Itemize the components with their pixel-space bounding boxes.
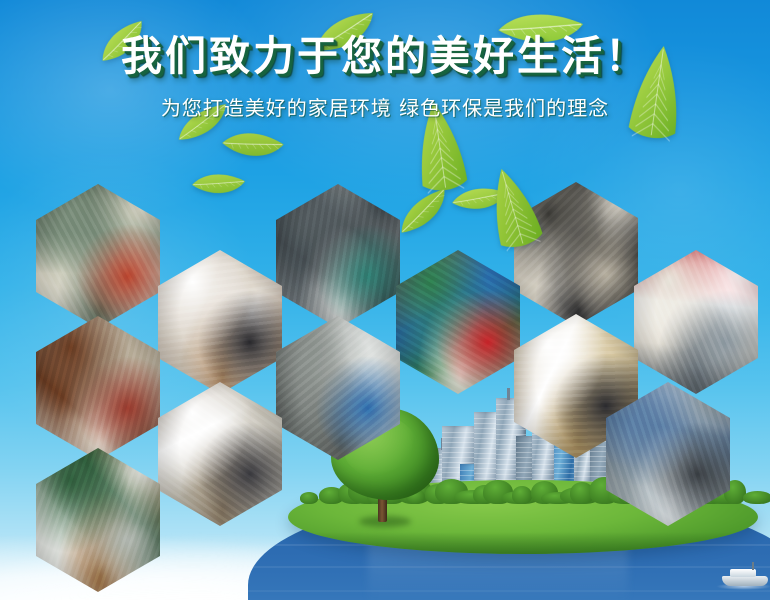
- island-bush: [743, 491, 770, 504]
- hex-photo-vignette: [634, 250, 758, 394]
- boat-hull: [722, 576, 768, 586]
- boat-mast: [752, 562, 754, 570]
- page-title: 我们致力于您的美好生活！: [0, 34, 770, 80]
- hex-tile-carpet-extractor[interactable]: [396, 250, 520, 394]
- hex-photo: [158, 250, 282, 394]
- hex-photo: [36, 184, 160, 328]
- banner-text-block: 我们致力于您的美好生活！ 为您打造美好的家居环境 绿色环保是我们的理念: [0, 34, 770, 121]
- boat-deck: [730, 569, 756, 577]
- hex-tile-stair-mopping[interactable]: [158, 250, 282, 394]
- hex-photo: [158, 382, 282, 526]
- leaf-mid-center-icon: [217, 118, 286, 174]
- hex-tile-ceiling-duct[interactable]: [276, 184, 400, 328]
- page-subtitle: 为您打造美好的家居环境 绿色环保是我们的理念: [0, 92, 770, 121]
- hex-tile-ceiling-chandelier[interactable]: [158, 382, 282, 526]
- hex-photo-vignette: [158, 382, 282, 526]
- hex-photo-vignette: [36, 184, 160, 328]
- leaf-low-left-icon: [189, 163, 247, 206]
- leaf-over-hex-icon: [479, 161, 547, 256]
- hex-photo: [634, 250, 758, 394]
- hex-photo-vignette: [276, 184, 400, 328]
- island-bush: [512, 486, 532, 504]
- hex-photo-vignette: [396, 250, 520, 394]
- leaf-low-center-icon: [390, 185, 459, 242]
- hex-photo: [396, 250, 520, 394]
- island-bush: [300, 492, 318, 504]
- hex-photo-vignette: [36, 316, 160, 460]
- hex-tile-partial-red-left[interactable]: [634, 250, 758, 394]
- hex-photo: [36, 316, 160, 460]
- boat: [722, 566, 770, 592]
- hex-photo: [276, 184, 400, 328]
- hex-tile-demolition-worker[interactable]: [36, 184, 160, 328]
- banner-canvas: 我们致力于您的美好生活！ 为您打造美好的家居环境 绿色环保是我们的理念: [0, 0, 770, 600]
- hex-photo-vignette: [158, 250, 282, 394]
- hex-tile-handrail-polish[interactable]: [36, 316, 160, 460]
